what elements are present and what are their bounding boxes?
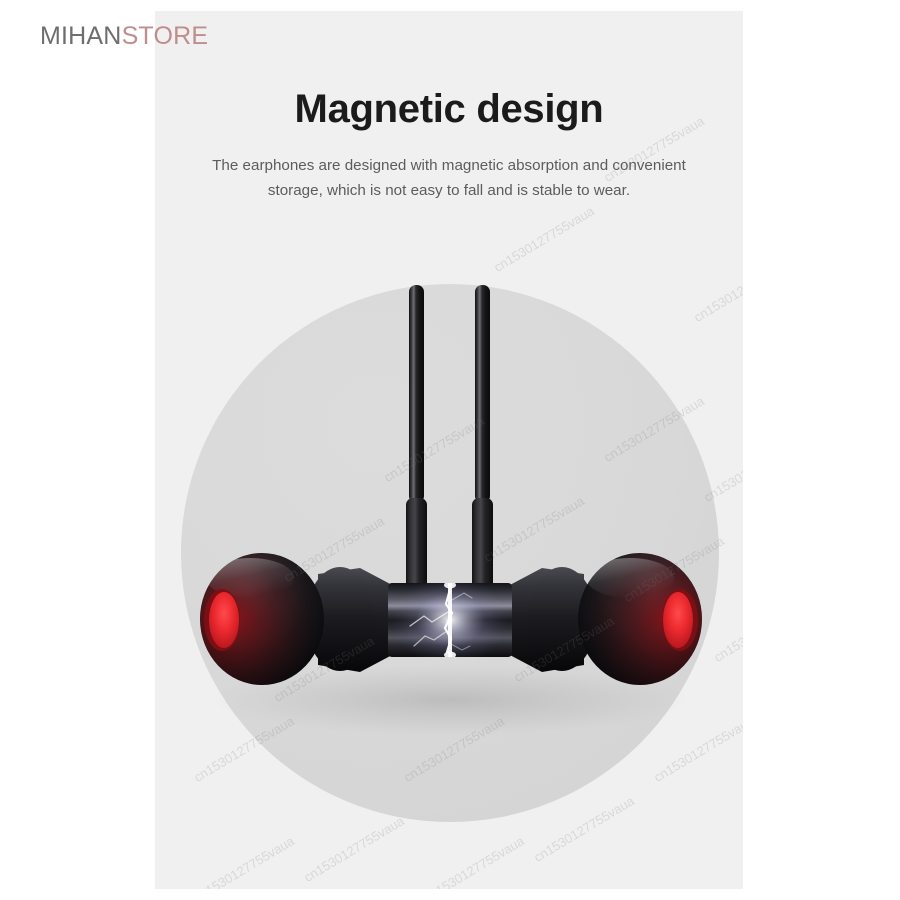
product-stage-circle bbox=[181, 284, 719, 822]
page-subtitle: The earphones are designed with magnetic… bbox=[201, 153, 697, 204]
page-title: Magnetic design bbox=[155, 86, 743, 132]
brand-logo-primary: MIHAN bbox=[40, 22, 122, 50]
brand-logo-secondary: STORE bbox=[122, 22, 209, 50]
brand-logo[interactable]: MIHANSTORE bbox=[40, 22, 208, 51]
headline-block: Magnetic design The earphones are design… bbox=[155, 86, 743, 204]
product-feature-banner: MIHANSTORE Magnetic design The earphones… bbox=[0, 0, 900, 900]
